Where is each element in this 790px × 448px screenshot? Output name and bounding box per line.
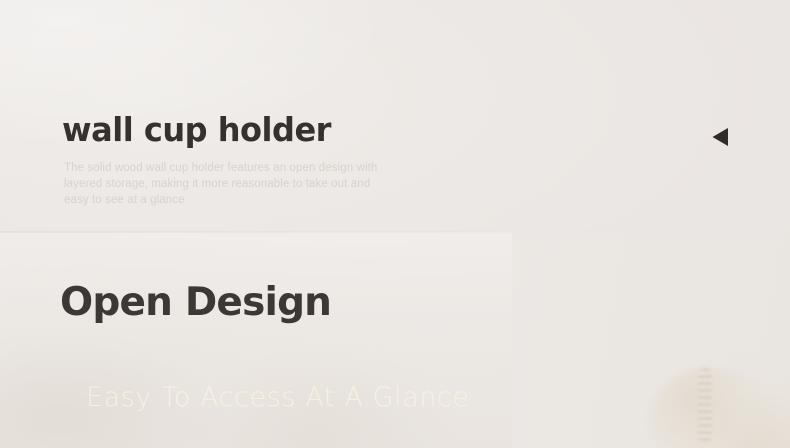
product-description: The solid wood wall cup holder features … [64, 160, 394, 208]
prev-slide-button[interactable] [704, 120, 738, 154]
product-photo-right [590, 328, 790, 448]
feature-tagline: Easy To Access At A Glance [86, 384, 470, 411]
feature-title: Open Design [60, 283, 331, 322]
page-title: wall cup holder [62, 113, 331, 146]
banner-stage: wall cup holder The solid wood wall cup … [0, 0, 790, 448]
panel-divider [0, 231, 790, 233]
product-photo-left [0, 232, 512, 448]
triangle-left-icon [707, 123, 735, 151]
